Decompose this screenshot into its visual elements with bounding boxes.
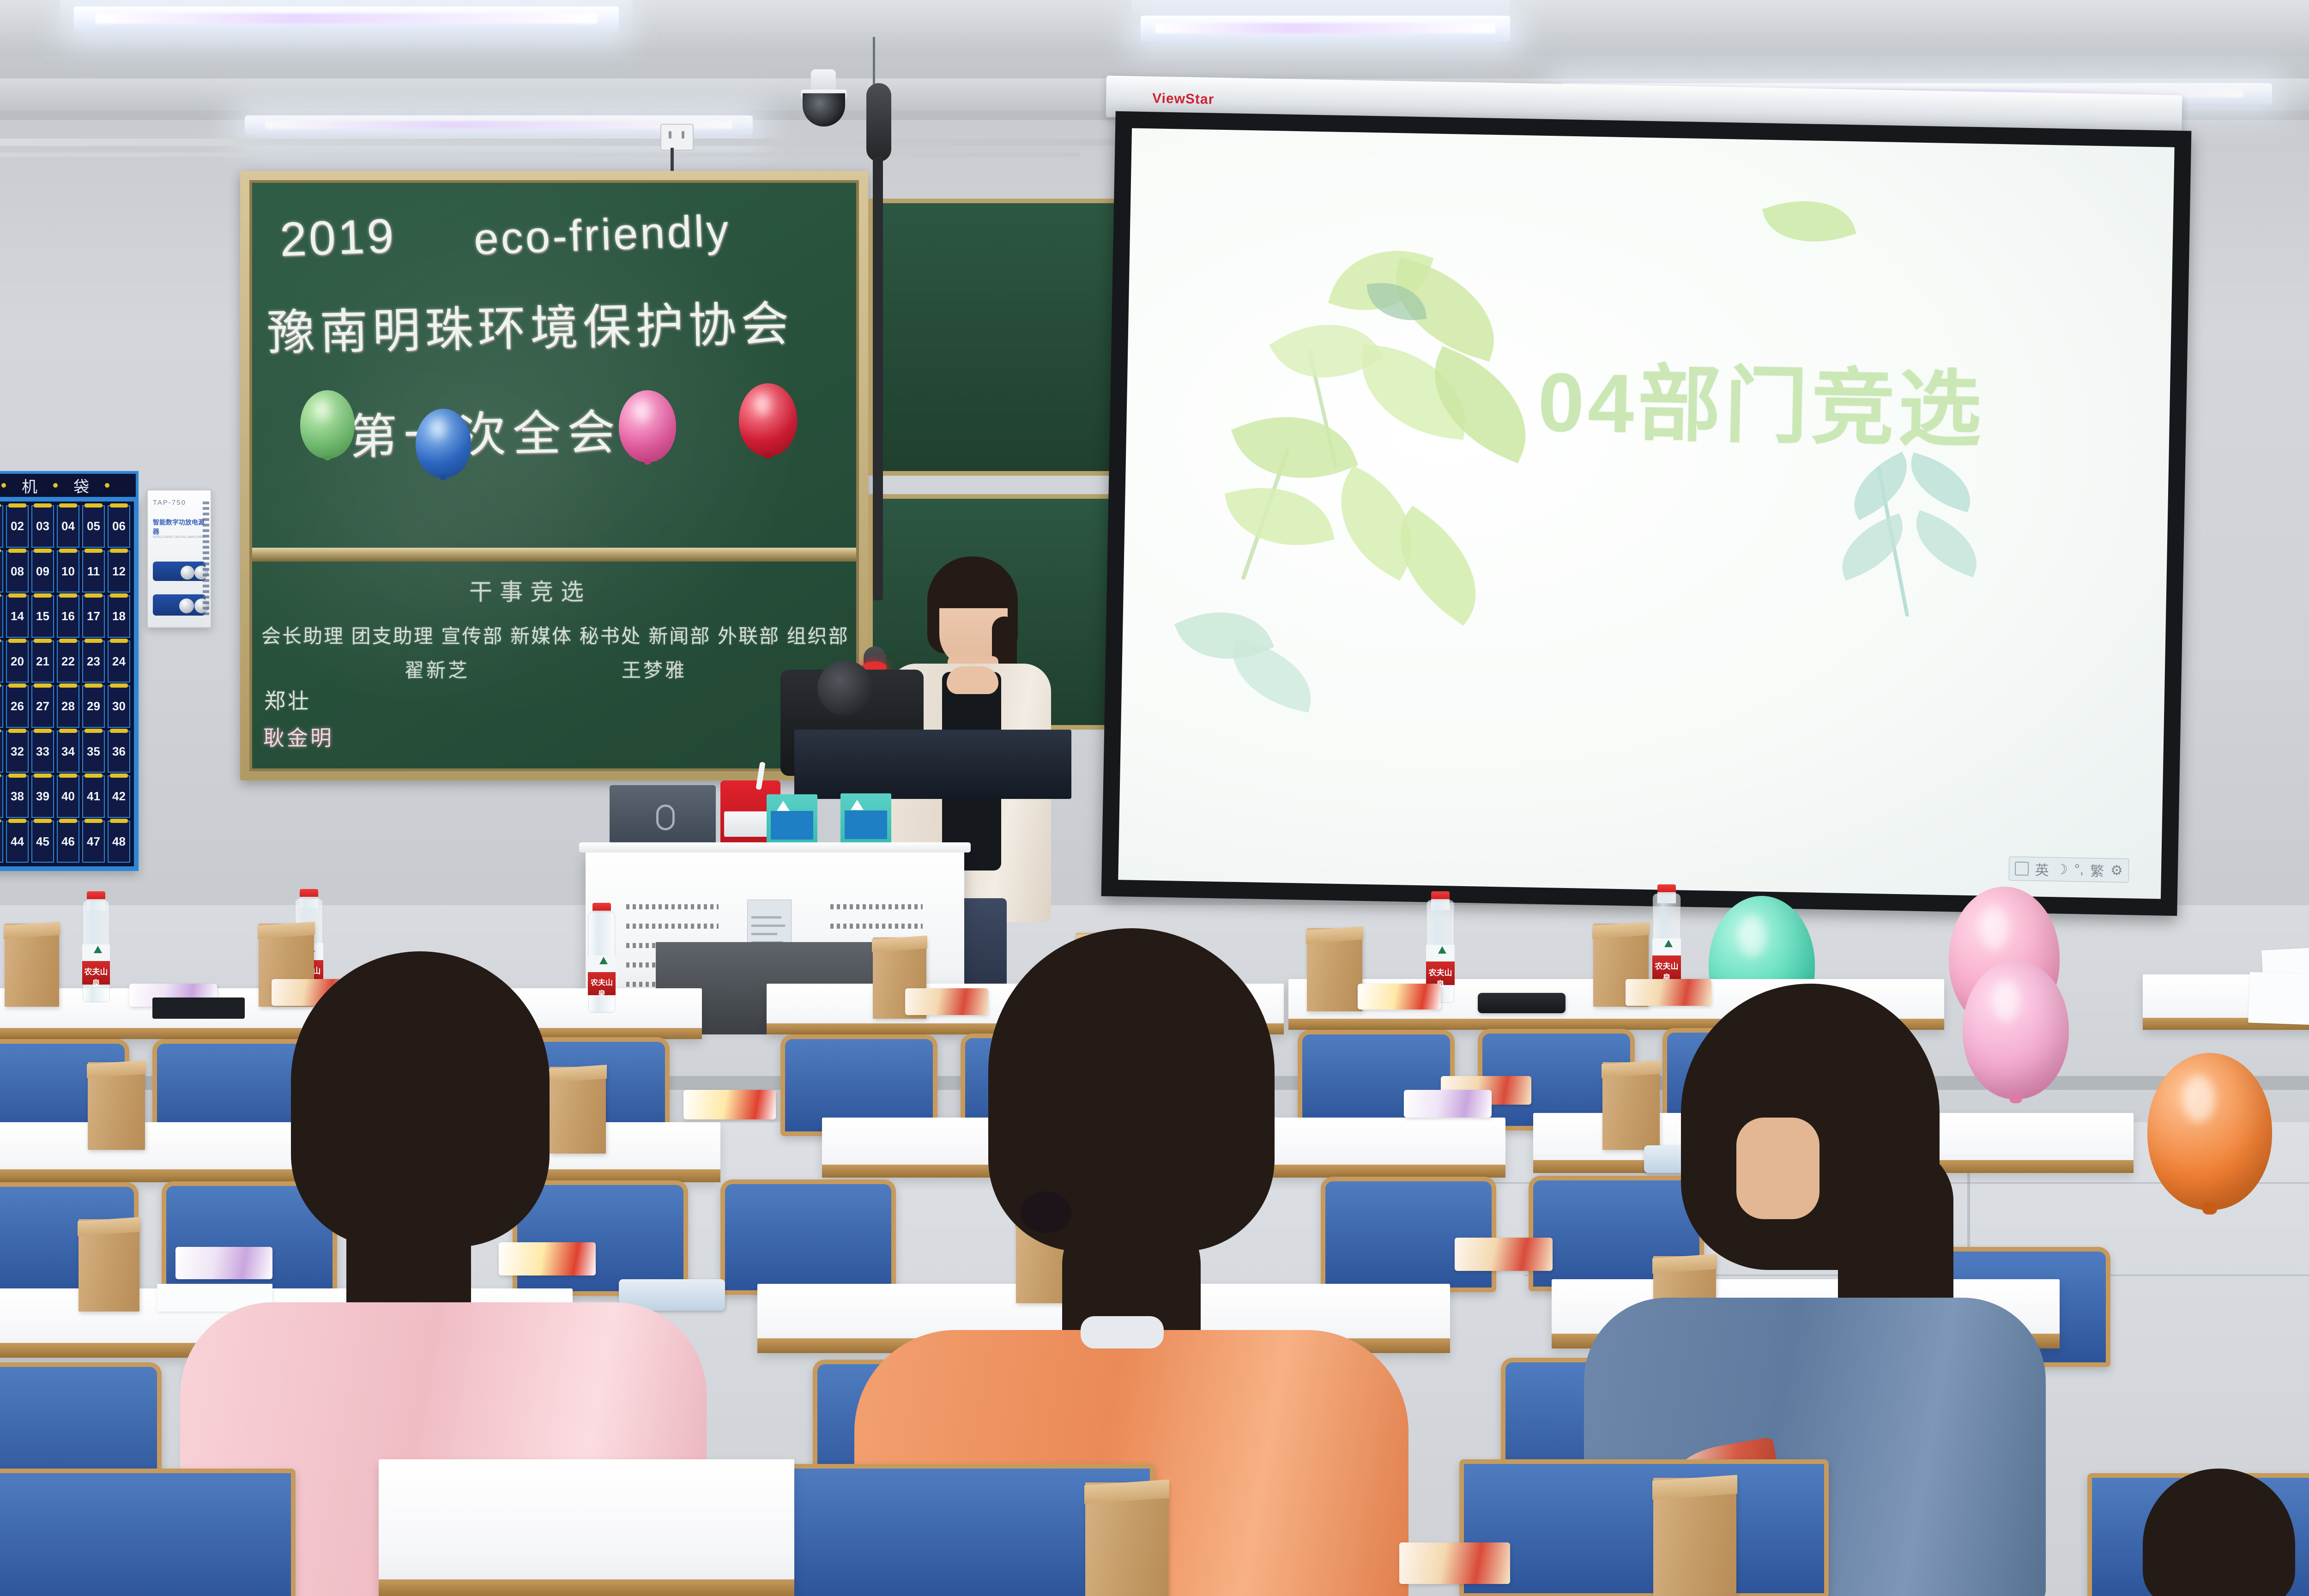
pocket-band [85, 683, 103, 688]
pocket-band [8, 639, 27, 643]
pocket-band [59, 639, 78, 643]
pocket-band [0, 729, 1, 733]
pocket-number: 11 [87, 564, 100, 579]
pocket-number: 21 [36, 654, 49, 669]
leaf-icon [1904, 510, 1989, 577]
pocket-cell[interactable]: 30 [108, 685, 130, 728]
hair-tie [1021, 1191, 1071, 1233]
pocket-band [110, 503, 128, 508]
pocket-cell[interactable]: 42 [108, 775, 130, 818]
pocket-cell[interactable]: 12 [108, 550, 130, 593]
pocket-band [85, 819, 103, 823]
pocket-cell[interactable]: 11 [82, 550, 105, 593]
leaf-icon [1840, 452, 1921, 520]
pocket-cell[interactable]: 10 [57, 550, 79, 593]
classroom-scene: TAP-750 智能数字功放电源器 INTELLIGENT DIGITAL AM… [0, 0, 2309, 1596]
amplifier-name-cn: 智能数字功放电源器 [153, 518, 211, 536]
pocket-number: 17 [87, 609, 100, 623]
fluorescent-tube-left [74, 6, 619, 31]
pocket-band [8, 549, 27, 553]
pocket-chart-header-left: 机 [22, 474, 37, 497]
pocket-cell[interactable]: 41 [82, 775, 105, 818]
pocket-number: 30 [112, 699, 126, 713]
pocket-cell[interactable]: 04 [57, 505, 79, 548]
pocket-cell[interactable]: 36 [108, 731, 130, 773]
student-foreground-head [2143, 1469, 2295, 1596]
pocket-number: 03 [36, 519, 49, 533]
pocket-band [85, 774, 103, 778]
ime-mode-label[interactable]: 英 [2035, 859, 2049, 880]
pocket-band [85, 639, 103, 643]
slide-title: 04部门竞选 [1537, 334, 1986, 463]
pocket-number: 24 [112, 654, 126, 669]
pocket-band [0, 639, 1, 643]
pocket-number: 48 [112, 834, 126, 849]
power-outlet[interactable] [660, 124, 694, 151]
gift-bag [5, 924, 59, 1007]
pocket-number: 04 [61, 519, 75, 533]
blackboard-subheading: 干事竞选 [469, 574, 591, 607]
blackboard: 2019 eco-friendly 豫南明珠环境保护协会 第一次全会 干事竞选 … [240, 171, 868, 780]
pocket-cell[interactable]: 48 [108, 821, 130, 863]
leaf-icon [1762, 185, 1856, 258]
pocket-cell[interactable]: 39 [31, 775, 54, 818]
pocket-cell[interactable]: 34 [57, 731, 79, 773]
pocket-band [59, 729, 78, 733]
pocket-cell[interactable]: 20 [6, 641, 29, 683]
snack-pack [1455, 1238, 1553, 1271]
pocket-band [34, 549, 52, 553]
pocket-cell[interactable]: 01 [0, 505, 3, 548]
camera-lens-icon [817, 660, 873, 716]
ime-moon-icon[interactable]: ☽ [2055, 861, 2068, 877]
ime-toolbar[interactable]: 英 ☽ °, 繁 ⚙ [2008, 857, 2129, 883]
pocket-band [85, 503, 103, 508]
pocket-number: 35 [87, 744, 100, 759]
pocket-cell[interactable]: 19 [0, 641, 3, 683]
pocket-band [59, 549, 78, 553]
wall-amplifier[interactable]: TAP-750 智能数字功放电源器 INTELLIGENT DIGITAL AM… [147, 490, 212, 628]
pocket-number: 05 [87, 519, 100, 533]
pocket-band [85, 549, 103, 553]
pocket-number: 34 [61, 744, 75, 759]
student-foreground-person [2124, 1441, 2309, 1596]
pocket-band [0, 683, 1, 688]
pocket-band [8, 819, 27, 823]
chair[interactable] [0, 1469, 296, 1596]
pocket-band [110, 549, 128, 553]
balloon-blue-board [416, 409, 471, 478]
pocket-number: 20 [11, 654, 24, 669]
pocket-cell[interactable]: 44 [6, 821, 29, 863]
pocket-band [0, 503, 1, 508]
pocket-number: 46 [61, 834, 75, 849]
projector-brand-label: ViewStar [1152, 91, 1215, 107]
balloon-green-board [300, 390, 355, 459]
pocket-chart-header-right: 袋 [73, 474, 89, 497]
pocket-cell[interactable]: 03 [31, 505, 54, 548]
pocket-number: 29 [87, 699, 100, 713]
pocket-cell[interactable]: 46 [57, 821, 79, 863]
fluorescent-tube-mid [1141, 16, 1510, 42]
pocket-cell[interactable]: 47 [82, 821, 105, 863]
pocket-cell[interactable]: 21 [31, 641, 54, 683]
pocket-band [8, 729, 27, 733]
gift-bag [79, 1219, 139, 1312]
pocket-band [59, 593, 78, 598]
balloon-red-board [739, 383, 797, 456]
blackboard-eco-friendly: eco-friendly [473, 205, 731, 265]
pocket-band [34, 503, 52, 508]
pocket-number: 14 [11, 609, 24, 623]
gift-bag [1653, 1478, 1736, 1596]
pocket-cell[interactable]: 08 [6, 550, 29, 593]
pocket-band [0, 774, 1, 778]
pocket-cell[interactable]: 38 [6, 775, 29, 818]
pocket-number: 10 [61, 564, 75, 579]
blackboard-name-geng: 耿金明 [263, 721, 334, 752]
pocket-number: 33 [36, 744, 49, 759]
pocket-cell[interactable]: 35 [82, 731, 105, 773]
leaf-icon [1225, 472, 1335, 561]
amplifier-name-en: INTELLIGENT DIGITAL AMPLIFIER [153, 536, 205, 539]
pocket-band [59, 503, 78, 508]
pocket-band [110, 639, 128, 643]
pocket-band [59, 819, 78, 823]
pocket-cell[interactable]: 32 [6, 731, 29, 773]
pocket-cell[interactable]: 05 [82, 505, 105, 548]
blackboard-name-zhai: 翟新芝 [405, 655, 470, 683]
pocket-number: 02 [11, 519, 24, 533]
pocket-number: 39 [36, 789, 49, 804]
pocket-band [34, 819, 52, 823]
pocket-cell[interactable]: 45 [31, 821, 54, 863]
snack-pack [1399, 1542, 1510, 1584]
pocket-cell[interactable]: 22 [57, 641, 79, 683]
pocket-number: 41 [87, 789, 100, 804]
projected-slide: 04部门竞选 英 ☽ °, 繁 ⚙ [1118, 128, 2174, 899]
pocket-band [8, 774, 27, 778]
gear-icon[interactable]: ⚙ [2110, 862, 2123, 878]
pocket-cell[interactable]: 13 [0, 595, 3, 638]
microphone-stand [873, 157, 883, 600]
pocket-cell[interactable]: 40 [57, 775, 79, 818]
blackboard-org-name: 豫南明珠环境保护协会 [266, 284, 794, 363]
presenter-collar-skin [947, 666, 998, 694]
blackboard-name-zheng: 郑壮 [264, 684, 311, 715]
amplifier-knob[interactable] [181, 566, 194, 580]
blackboard-session: 第一次全会 [349, 393, 623, 467]
paper-stack[interactable] [2248, 972, 2309, 1028]
pocket-band [85, 729, 103, 733]
pocket-band [8, 683, 27, 688]
pocket-number: 47 [87, 834, 100, 849]
pocket-chart-header: 机 袋 [0, 471, 139, 497]
pocket-band [34, 639, 52, 643]
pocket-band [34, 593, 52, 598]
pocket-cell[interactable]: 18 [108, 595, 130, 638]
pocket-band [110, 819, 128, 823]
pocket-number: 27 [36, 699, 49, 713]
blackboard-year: 2019 [279, 209, 397, 268]
chair[interactable] [1459, 1459, 1829, 1596]
pocket-band [59, 683, 78, 688]
podium-monitor[interactable] [794, 730, 1071, 799]
keyboard-chip-icon[interactable] [2015, 862, 2029, 876]
pocket-cell[interactable]: 02 [6, 505, 29, 548]
amplifier-model: TAP-750 [153, 499, 186, 507]
pocket-cell[interactable]: 17 [82, 595, 105, 638]
pocket-cell[interactable]: 15 [31, 595, 54, 638]
pocket-band [34, 729, 52, 733]
pocket-band [0, 593, 1, 598]
pocket-band [0, 549, 1, 553]
leaf-icon [1231, 392, 1359, 503]
wall-conduit [0, 139, 1118, 146]
pocket-cell[interactable]: 31 [0, 731, 3, 773]
phone-pocket-chart[interactable]: 0102030405060708091011121314151617181920… [0, 497, 139, 871]
blackboard-department-row: 会长助理 团支助理 宣传部 新媒体 秘书处 新闻部 外联部 组织部 [261, 621, 849, 649]
student-denim-face-side [1736, 1118, 1819, 1219]
pocket-band [8, 593, 27, 598]
pocket-band [85, 593, 103, 598]
pocket-number: 44 [11, 834, 24, 849]
pocket-number: 45 [36, 834, 49, 849]
pocket-cell[interactable]: 25 [0, 685, 3, 728]
pocket-band [34, 774, 52, 778]
pocket-cell[interactable]: 33 [31, 731, 54, 773]
pocket-number: 38 [11, 789, 24, 804]
ime-traditional-label[interactable]: 繁 [2090, 860, 2104, 881]
pocket-band [59, 774, 78, 778]
pocket-cell[interactable]: 26 [6, 685, 29, 728]
amplifier-knob[interactable] [179, 598, 194, 613]
pocket-band [110, 774, 128, 778]
pocket-number: 22 [61, 654, 75, 669]
pocket-band [34, 683, 52, 688]
pocket-band [110, 593, 128, 598]
student-orange-collar [1081, 1316, 1164, 1348]
pocket-number: 32 [11, 744, 24, 759]
leaf-icon [1830, 514, 1915, 581]
pocket-cell[interactable]: 14 [6, 595, 29, 638]
pocket-cell[interactable]: 24 [108, 641, 130, 683]
ime-punct-icon[interactable]: °, [2074, 862, 2084, 877]
pocket-band [110, 729, 128, 733]
laptop[interactable] [610, 785, 716, 850]
pocket-number: 26 [11, 699, 24, 713]
pocket-number: 36 [112, 744, 126, 759]
pocket-number: 18 [112, 609, 126, 623]
pocket-cell[interactable]: 06 [108, 505, 130, 548]
microphone-head [866, 83, 891, 162]
blackboard-name-wang: 王梦雅 [622, 655, 687, 683]
pocket-cell[interactable]: 37 [0, 775, 3, 818]
pocket-cell[interactable]: 28 [57, 685, 79, 728]
pocket-cell[interactable]: 23 [82, 641, 105, 683]
security-camera-icon [799, 69, 850, 129]
projector-screen: 04部门竞选 英 ☽ °, 繁 ⚙ [1101, 111, 2192, 916]
pocket-number: 16 [61, 609, 75, 623]
balloon-orange-room [2147, 1053, 2272, 1210]
pocket-cell[interactable]: 09 [31, 550, 54, 593]
pocket-band [110, 683, 128, 688]
pocket-cell[interactable]: 27 [31, 685, 54, 728]
gift-bag [1085, 1482, 1168, 1596]
pocket-number: 23 [87, 654, 100, 669]
pocket-cell[interactable]: 07 [0, 550, 3, 593]
pocket-band [0, 819, 1, 823]
pocket-band [8, 503, 27, 508]
pocket-number: 40 [61, 789, 75, 804]
pocket-cell[interactable]: 43 [0, 821, 3, 863]
pocket-cell[interactable]: 29 [82, 685, 105, 728]
pocket-number: 09 [36, 564, 49, 579]
pocket-number: 06 [112, 519, 126, 533]
bottle-brand: 农夫山泉 [82, 965, 110, 988]
gift-bag [88, 1062, 145, 1150]
pocket-number: 28 [61, 699, 75, 713]
water-bottle: 农夫山泉 [79, 891, 114, 1002]
pocket-cell[interactable]: 16 [57, 595, 79, 638]
side-board-upper [868, 199, 1127, 476]
pocket-number: 15 [36, 609, 49, 623]
wall-conduit [0, 152, 1081, 157]
balloon-pink-board [619, 390, 676, 462]
pocket-number: 42 [112, 789, 126, 804]
leaf-icon [1223, 639, 1321, 713]
pocket-number: 12 [112, 564, 126, 579]
pocket-number: 08 [11, 564, 24, 579]
desk-foreground [379, 1459, 794, 1596]
